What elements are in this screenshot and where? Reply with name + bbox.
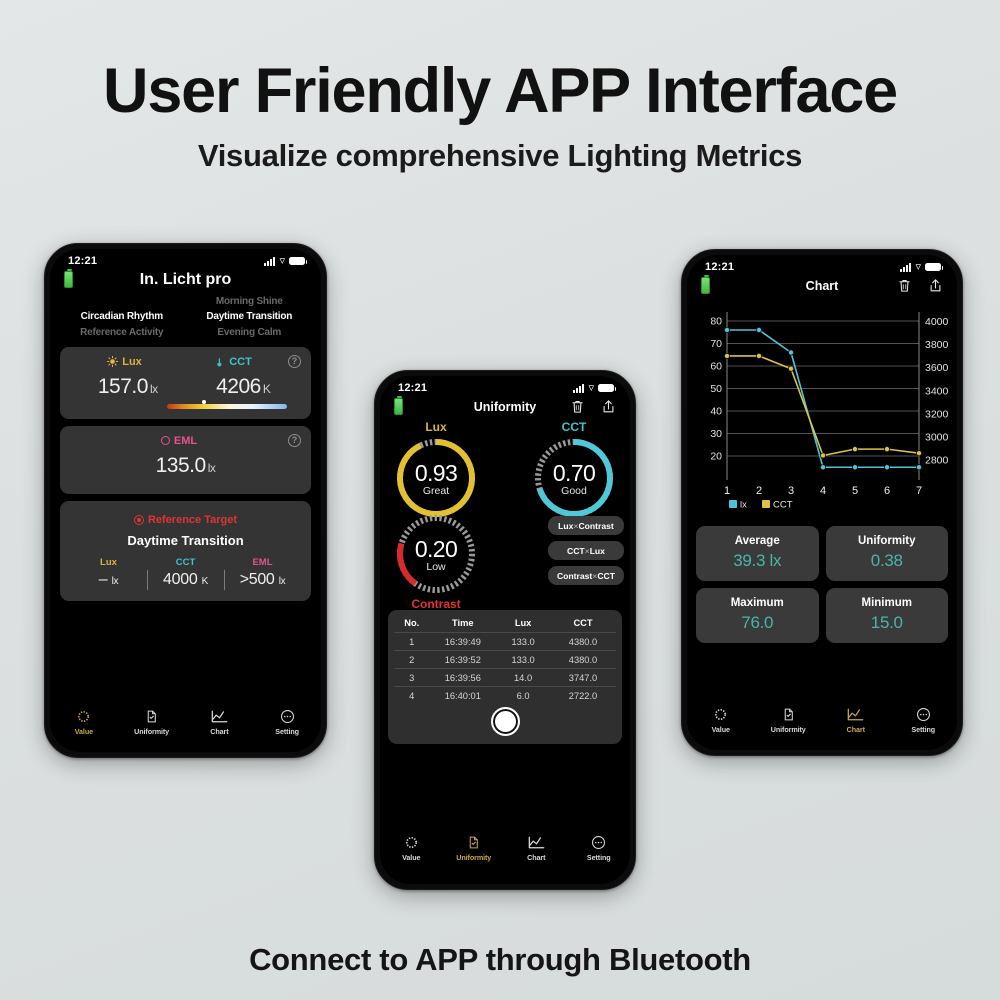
stats-grid: Average 39.3 lx Uniformity 0.38 Maximum … [696,526,948,643]
line-chart-icon [822,705,890,723]
tab-value-label: Value [687,725,755,734]
stat-label: Uniformity [830,535,945,547]
ref-lux-unit: lx [112,576,119,587]
ref-eml-value: >500 [240,571,275,588]
tab-uniformity[interactable]: Uniformity [118,707,186,736]
eml-metric-label: EML [161,435,197,447]
share-icon[interactable] [928,277,943,294]
svg-text:60: 60 [710,361,722,373]
svg-text:6: 6 [884,485,890,497]
svg-text:2800: 2800 [925,455,949,467]
ref-lux-value-wrap: – lx [70,571,147,589]
phone1-status-bar: 12:21 ▿ [50,249,321,267]
tab-chart-label: Chart [186,727,254,736]
tab-setting-label: Setting [890,725,958,734]
phone1-screen: 12:21 ▿ In. Licht pro Morning Shine Circ… [50,249,321,752]
ref-eml-value-wrap: >500 lx [224,571,301,589]
col-no: No. [394,615,430,633]
col-time: Time [430,615,497,633]
reference-cell-cct: CCT 4000 K [147,557,224,589]
signal-icon [900,263,911,272]
tab-chart[interactable]: Chart [505,833,568,862]
cell-time: 16:40:01 [430,687,497,705]
stat-value: 0.38 [830,551,945,571]
reference-scenario-name: Daytime Transition [70,533,301,548]
svg-text:7: 7 [916,485,922,497]
svg-text:50: 50 [710,383,722,395]
dots-circle-icon [890,705,958,723]
cell-time: 16:39:49 [430,633,497,651]
help-icon[interactable]: ? [288,434,301,447]
cct-unit: K [263,382,271,396]
gauge-contrast: 0.20 Low Contrast [394,512,478,611]
line-chart-icon [186,707,254,725]
tab-value[interactable]: Value [687,705,755,734]
device-battery-icon [701,277,710,294]
banner: User Friendly APP Interface Visualize co… [0,58,1000,174]
table-row: 216:39:52133.04380.0 [394,651,616,669]
gauge-cct-quality: Good [561,485,587,497]
signal-icon [264,257,275,266]
svg-text:3800: 3800 [925,339,949,351]
trash-icon[interactable] [897,277,912,294]
lux-unit: lx [150,382,158,396]
cmp-left: CCT [567,546,585,556]
wifi-icon: ▿ [915,263,921,272]
lux-label: Lux [122,356,142,368]
footer-caption: Connect to APP through Bluetooth [0,942,1000,978]
col-lux: Lux [496,615,550,633]
kelvin-gradient-bar [167,404,287,409]
gauge-lux-quality: Great [423,485,449,497]
gauge-lux: Lux 0.93 Great [394,420,478,520]
wifi-icon: ▿ [588,384,594,393]
signal-icon [573,384,584,393]
cct-metric-label: CCT [215,356,252,368]
device-battery-icon [64,271,73,288]
tab-uniformity-label: Uniformity [443,853,506,862]
tab-setting[interactable]: Setting [890,705,958,734]
cmp-right: Contrast [578,521,613,531]
svg-text:3000: 3000 [925,432,949,444]
cell-lux: 6.0 [496,687,550,705]
uniformity-gauges: Lux 0.93 Great CCT [380,420,630,605]
eml-value-wrap: 135.0lx [70,454,301,478]
svg-text:3200: 3200 [925,408,949,420]
battery-icon [289,257,305,265]
comparison-buttons[interactable]: Lux×Contrast CCT×Lux Contrast×CCT [548,516,624,585]
gear-value-icon [380,833,443,851]
cmp-left: Contrast [557,571,592,581]
target-icon [134,515,144,525]
gauge-cct: CCT 0.70 Good [532,420,616,520]
tab-chart-label: Chart [505,853,568,862]
tab-setting-label: Setting [568,853,631,862]
phone2-status-bar: 12:21 ▿ [380,376,630,394]
status-time: 12:21 [68,255,97,267]
stat-card-average: Average 39.3 lx [696,526,819,581]
stat-card-minimum: Minimum 15.0 [826,588,949,643]
device-battery-icon [394,398,403,415]
ref-cct-value: 4000 [163,571,197,588]
gauge-contrast-label: Contrast [394,597,478,611]
cell-no: 2 [394,651,430,669]
battery-icon [598,384,614,392]
picker-row: Reference Activity Evening Calm [58,325,313,340]
ref-lux-value: – [99,571,108,588]
table-row: 416:40:016.02722.0 [394,687,616,705]
gear-value-icon [50,707,118,725]
phone3-tab-bar[interactable]: Value Uniformity Chart Setting [687,705,957,734]
phone1-tab-bar[interactable]: Value Uniformity Chart Setting [50,707,321,736]
dots-circle-icon [568,833,631,851]
picker-right-2[interactable]: Evening Calm [186,327,314,338]
table-row: 316:39:5614.03747.0 [394,669,616,687]
gauge-lux-ring: 0.93 Great [394,436,478,520]
tab-value-label: Value [380,853,443,862]
ref-cct-label: CCT [147,557,224,568]
tab-value[interactable]: Value [380,833,443,862]
lux-metric-label: Lux [107,356,142,368]
stat-label: Minimum [830,597,945,609]
ref-cct-unit: K [202,576,208,587]
reference-label-text: Reference Target [148,514,237,526]
cmp-left: Lux [558,521,573,531]
ref-eml-unit: lx [279,576,286,587]
app-title: In. Licht pro [50,271,321,289]
picker-right-1[interactable]: Daytime Transition [186,311,314,322]
cell-cct: 3747.0 [550,669,616,687]
ref-cct-value-wrap: 4000 K [147,571,224,589]
svg-text:30: 30 [710,428,722,440]
stat-label: Maximum [700,597,815,609]
col-cct: CCT [550,615,616,633]
cell-lux: 14.0 [496,669,550,687]
picker-row-selected: Circadian Rhythm Daytime Transition [58,309,313,324]
document-check-icon [755,705,823,723]
share-icon[interactable] [601,398,616,415]
gauge-contrast-ring: 0.20 Low [394,512,478,596]
svg-text:4: 4 [820,485,826,497]
cell-cct: 4380.0 [550,633,616,651]
eml-card: EML ? 135.0lx [60,426,311,494]
document-check-icon [443,833,506,851]
trash-icon[interactable] [570,398,585,415]
gauge-cct-label: CCT [532,420,616,434]
cmp-right: Lux [590,546,605,556]
phone3-status-bar: 12:21 ▿ [687,255,957,273]
svg-text:70: 70 [710,338,722,350]
page-subtitle: Visualize comprehensive Lighting Metrics [0,138,1000,174]
lux-cct-card: Lux CCT ? 157.0lx 4206K [60,347,311,419]
lux-value: 157.0 [98,375,148,398]
thermometer-icon [215,356,225,368]
stat-label: Average [700,535,815,547]
gauge-contrast-value: 0.20 [415,536,457,563]
compare-contrast-cct-button[interactable]: Contrast×CCT [548,566,624,585]
picker-row: Morning Shine [58,294,313,309]
dots-circle-icon [253,707,321,725]
phone2-tab-bar[interactable]: Value Uniformity Chart Setting [380,833,630,862]
eml-ring-icon [161,436,170,445]
tab-uniformity-label: Uniformity [118,727,186,736]
sun-icon [107,356,118,367]
svg-text:lx: lx [740,500,747,511]
tab-uniformity[interactable]: Uniformity [755,705,823,734]
page-title: User Friendly APP Interface [0,58,1000,124]
cell-cct: 2722.0 [550,687,616,705]
tab-chart[interactable]: Chart [822,705,890,734]
shutter-button[interactable] [491,707,520,736]
tab-setting[interactable]: Setting [568,833,631,862]
status-time: 12:21 [705,261,734,273]
table-header-row: No. Time Lux CCT [394,615,616,633]
document-check-icon [118,707,186,725]
stat-value: 39.3 lx [700,551,815,571]
phone-mockup-uniformity-screen: 12:21 ▿ Uniformity Lux [374,370,636,890]
reference-target-label: Reference Target [134,514,237,526]
svg-text:40: 40 [710,406,722,418]
phone-mockup-value-screen: 12:21 ▿ In. Licht pro Morning Shine Circ… [44,243,327,758]
gauge-lux-label: Lux [394,420,478,434]
svg-text:5: 5 [852,485,858,497]
scenario-picker[interactable]: Morning Shine Circadian Rhythm Daytime T… [58,294,313,340]
cell-lux: 133.0 [496,633,550,651]
picker-right-0[interactable]: Morning Shine [186,296,314,307]
eml-value: 135.0 [156,454,206,477]
line-chart-icon [505,833,568,851]
svg-text:2: 2 [756,485,762,497]
tab-setting[interactable]: Setting [253,707,321,736]
cell-lux: 133.0 [496,651,550,669]
chart-container: 2030405060708028003000320034003600380040… [687,298,957,521]
compare-cct-lux-button[interactable]: CCT×Lux [548,541,624,560]
svg-text:3400: 3400 [925,385,949,397]
svg-text:80: 80 [710,316,722,328]
stat-card-maximum: Maximum 76.0 [696,588,819,643]
tab-setting-label: Setting [253,727,321,736]
measurements-table-card: No. Time Lux CCT 116:39:49133.04380.0 21… [388,610,622,744]
gear-value-icon [687,705,755,723]
tab-value[interactable]: Value [50,707,118,736]
measurements-table: No. Time Lux CCT 116:39:49133.04380.0 21… [394,615,616,704]
svg-text:1: 1 [724,485,730,497]
picker-left-1[interactable]: Circadian Rhythm [58,311,186,322]
ref-lux-label: Lux [70,557,147,568]
phone3-app-header: Chart [687,273,957,296]
svg-text:4000: 4000 [925,316,949,328]
gauge-cct-value: 0.70 [553,460,595,487]
gauge-cct-ring: 0.70 Good [532,436,616,520]
phone2-screen: 12:21 ▿ Uniformity Lux [380,376,630,884]
gauge-lux-value: 0.93 [415,460,457,487]
cell-no: 1 [394,633,430,651]
table-row: 116:39:49133.04380.0 [394,633,616,651]
lux-value-wrap: 157.0lx [70,375,186,399]
kelvin-marker [202,400,206,404]
cell-time: 16:39:56 [430,669,497,687]
gauge-contrast-quality: Low [426,561,445,573]
svg-text:3600: 3600 [925,362,949,374]
tab-value-label: Value [50,727,118,736]
phone-mockup-chart-screen: 12:21 ▿ Chart 20304050607080280030003200… [681,249,963,756]
phone3-screen: 12:21 ▿ Chart 20304050607080280030003200… [687,255,957,750]
cct-value-wrap: 4206K [186,375,302,399]
cell-no: 3 [394,669,430,687]
phone1-app-header: In. Licht pro [50,267,321,290]
help-icon[interactable]: ? [288,355,301,368]
tab-uniformity-label: Uniformity [755,725,823,734]
svg-text:CCT: CCT [773,500,793,511]
tab-uniformity[interactable]: Uniformity [443,833,506,862]
battery-icon [925,263,941,271]
phone2-app-header: Uniformity [380,394,630,417]
reference-cell-eml: EML >500 lx [224,557,301,589]
cmp-right: CCT [597,571,615,581]
line-chart[interactable]: 2030405060708028003000320034003600380040… [691,298,957,516]
cell-no: 4 [394,687,430,705]
cct-value: 4206 [216,375,261,398]
svg-text:20: 20 [710,451,722,463]
reference-cell-lux: Lux – lx [70,557,147,589]
compare-lux-contrast-button[interactable]: Lux×Contrast [548,516,624,535]
picker-left-2[interactable]: Reference Activity [58,327,186,338]
wifi-icon: ▿ [279,257,285,266]
stat-card-uniformity: Uniformity 0.38 [826,526,949,581]
cct-label: CCT [229,356,252,368]
status-time: 12:21 [398,382,427,394]
reference-target-card: Reference Target Daytime Transition Lux … [60,501,311,601]
eml-unit: lx [208,461,216,475]
cell-cct: 4380.0 [550,651,616,669]
tab-chart-label: Chart [822,725,890,734]
svg-text:3: 3 [788,485,794,497]
eml-label: EML [174,435,197,447]
stat-value: 76.0 [700,613,815,633]
stat-value: 15.0 [830,613,945,633]
ref-eml-label: EML [224,557,301,568]
tab-chart[interactable]: Chart [186,707,254,736]
cell-time: 16:39:52 [430,651,497,669]
